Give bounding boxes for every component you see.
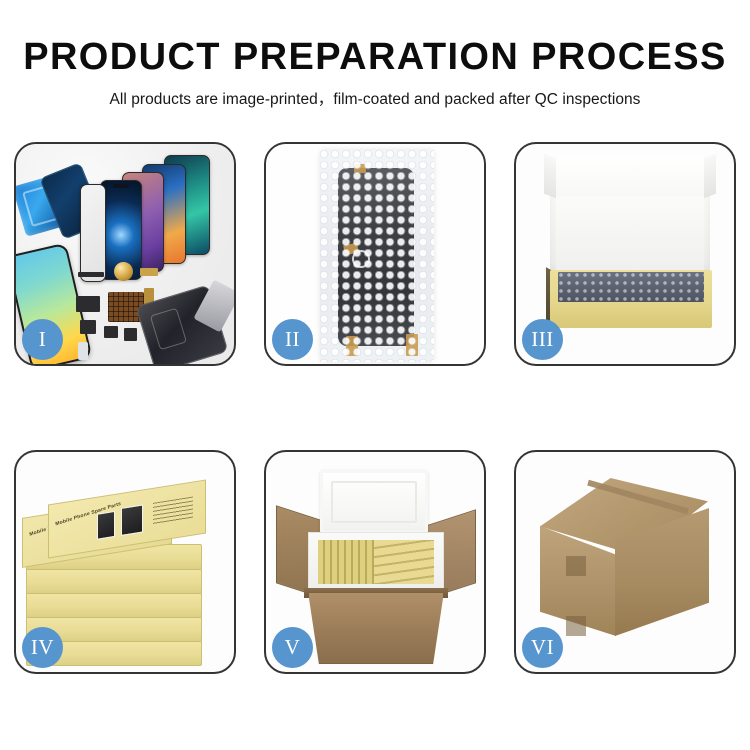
stacked-box-3	[26, 568, 202, 594]
process-step-grid: I II	[14, 142, 736, 674]
stacked-box-4	[26, 592, 202, 618]
step-badge-6: VI	[522, 627, 563, 668]
phone-screen-1	[80, 184, 106, 282]
carton-handle-tab-upper	[566, 556, 586, 576]
small-part-strip	[78, 272, 104, 277]
step-badge-1: I	[22, 319, 63, 360]
process-step-3: III	[514, 142, 736, 366]
phone-screen-fan	[78, 156, 234, 274]
photo-boxes-stacked: Mobile Phone Spare Parts Mobile Phone Sp…	[16, 452, 234, 672]
process-step-1: I	[14, 142, 236, 366]
photo-foam-carton-packing: V	[266, 452, 484, 672]
page-subtitle: All products are image-printed，film-coat…	[0, 87, 750, 109]
box-window-front-1	[97, 511, 115, 540]
process-step-5: V	[264, 450, 486, 674]
step-badge-2: II	[272, 319, 313, 360]
small-part-bracket	[76, 296, 100, 312]
process-step-2: II	[264, 142, 486, 366]
process-step-4: Mobile Phone Spare Parts Mobile Phone Sp…	[14, 450, 236, 674]
carton-front-panel	[308, 592, 444, 664]
photo-bubble-wrap-packing: II	[266, 144, 484, 364]
page-title: PRODUCT PREPARATION PROCESS	[0, 38, 750, 78]
gold-component	[114, 262, 133, 281]
product-preparation-infographic: PRODUCT PREPARATION PROCESS All products…	[0, 0, 750, 750]
foam-sheet-face	[556, 196, 704, 270]
carton-handle-tab-lower	[566, 616, 586, 636]
bubble-wrap-bag	[320, 150, 434, 362]
small-part-screwdriver-tip	[78, 342, 88, 360]
yellow-boxes-horizontal	[374, 540, 434, 584]
small-part-speaker	[104, 326, 118, 338]
box-window-front-2	[121, 504, 143, 535]
bubble-wrap-fill	[558, 272, 704, 302]
photo-sealed-carton: VI	[516, 452, 734, 672]
photo-product-overview: I	[16, 144, 234, 364]
box-spec-lines-front	[153, 497, 193, 525]
foam-cooler-lid	[320, 470, 428, 534]
header: PRODUCT PREPARATION PROCESS All products…	[0, 0, 750, 109]
step-badge-3: III	[522, 319, 563, 360]
small-part-camera	[124, 328, 137, 341]
photo-inner-box-packing: III	[516, 144, 734, 364]
process-step-6: VI	[514, 450, 736, 674]
bubble-texture	[320, 150, 434, 362]
step-badge-4: IV	[22, 627, 63, 668]
small-part-flex-cable	[140, 268, 158, 276]
small-part-clip	[80, 320, 96, 334]
step-badge-5: V	[272, 627, 313, 668]
